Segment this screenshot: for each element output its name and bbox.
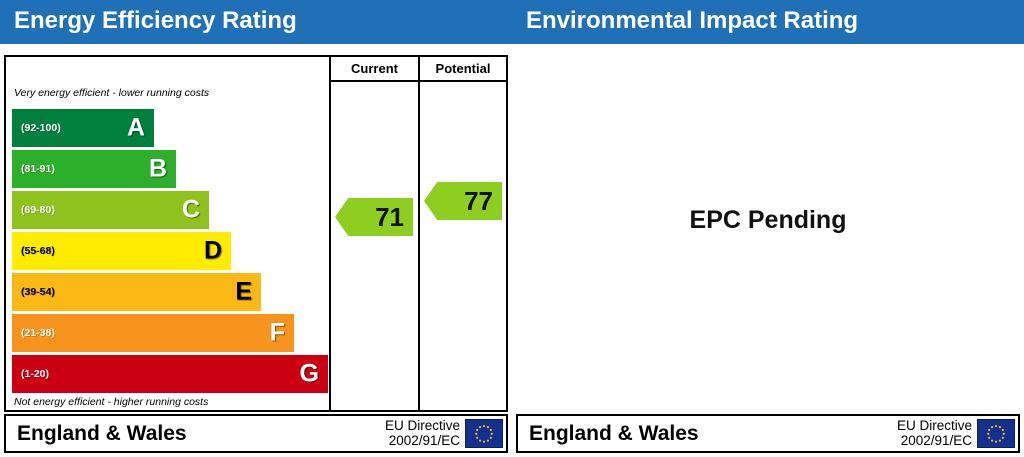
environmental-footer-bar: England & Wales EU Directive 2002/91/EC — [516, 414, 1020, 453]
energy-efficiency-panel: Energy Efficiency Rating Current Potenti… — [0, 0, 512, 457]
footer-directive-line2-left: 2002/91/EC — [372, 434, 460, 449]
energy-efficiency-title-bar: Energy Efficiency Rating — [0, 0, 512, 44]
footer-directive-line1-right: EU Directive — [884, 419, 972, 434]
current-rating-value: 71 — [375, 204, 404, 230]
band-range-d: (55-68) — [21, 246, 55, 257]
rating-band-g: (1-20) G — [12, 355, 328, 393]
footer-directive-line2-right: 2002/91/EC — [884, 434, 972, 449]
page-title-energy: Energy Efficiency Rating — [14, 7, 297, 35]
rating-scale-area: Very energy efficient - lower running co… — [6, 57, 329, 410]
rating-band-a: (92-100) A — [12, 109, 154, 147]
band-range-b: (81-91) — [21, 164, 55, 175]
band-letter-e: E — [235, 280, 252, 305]
band-range-e: (39-54) — [21, 287, 55, 298]
rating-band-f: (21-38) F — [12, 314, 294, 352]
current-rating-arrow: 71 — [335, 198, 413, 236]
band-letter-g: G — [300, 362, 319, 387]
column-divider-potential — [418, 57, 420, 410]
band-letter-d: D — [204, 239, 222, 264]
rating-band-b: (81-91) B — [12, 150, 176, 188]
eu-flag-icon-left — [465, 419, 503, 448]
epc-pending-message: EPC Pending — [512, 206, 1024, 235]
band-range-g: (1-20) — [21, 369, 49, 380]
band-range-c: (69-80) — [21, 205, 55, 216]
band-range-a: (92-100) — [21, 123, 61, 134]
environmental-impact-title-bar: Environmental Impact Rating — [512, 0, 1024, 44]
potential-rating-value: 77 — [464, 188, 493, 214]
energy-footer-bar: England & Wales EU Directive 2002/91/EC — [4, 414, 508, 453]
column-divider-current — [329, 57, 331, 410]
column-header-current: Current — [331, 60, 418, 78]
column-header-potential: Potential — [420, 60, 506, 78]
band-letter-b: B — [149, 157, 167, 182]
rating-band-e: (39-54) E — [12, 273, 261, 311]
environmental-impact-panel: Environmental Impact Rating EPC Pending … — [512, 0, 1024, 457]
band-letter-c: C — [182, 198, 200, 223]
potential-rating-arrow: 77 — [424, 182, 502, 220]
footer-directive-line1-left: EU Directive — [372, 419, 460, 434]
scale-note-inefficient: Not energy efficient - higher running co… — [14, 396, 208, 408]
page-title-environmental: Environmental Impact Rating — [526, 7, 858, 35]
eu-flag-icon-right — [977, 419, 1015, 448]
energy-efficiency-chart: Current Potential Very energy efficient … — [4, 55, 508, 412]
header-row-divider — [329, 80, 506, 82]
band-range-f: (21-38) — [21, 328, 55, 339]
rating-band-d: (55-68) D — [12, 232, 231, 270]
footer-directive-right: EU Directive 2002/91/EC — [884, 419, 972, 448]
rating-band-c: (69-80) C — [12, 191, 209, 229]
scale-note-efficient: Very energy efficient - lower running co… — [14, 87, 209, 99]
band-letter-a: A — [127, 116, 145, 141]
footer-directive-left: EU Directive 2002/91/EC — [372, 419, 460, 448]
footer-region-left: England & Wales — [17, 422, 187, 446]
footer-region-right: England & Wales — [529, 422, 699, 446]
band-letter-f: F — [270, 321, 285, 346]
epc-certificate-graphic: Energy Efficiency Rating Current Potenti… — [0, 0, 1024, 457]
